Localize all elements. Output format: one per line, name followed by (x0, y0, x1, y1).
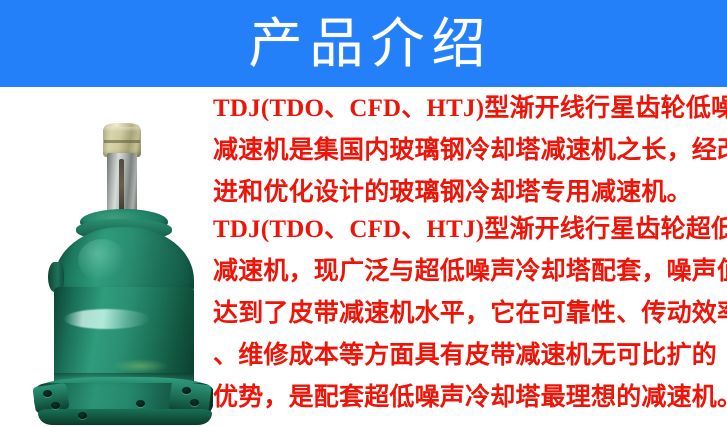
description-line: 减速机，现广泛与超低噪声冷却塔配套，噪声值 (213, 255, 727, 289)
description-line: TDJ(TDO、CFD、HTJ)型渐开线行星齿轮超低噪声 (213, 213, 727, 247)
description-line: TDJ(TDO、CFD、HTJ)型渐开线行星齿轮低噪声 (213, 92, 727, 126)
barrel-label-smudge-icon (114, 359, 168, 373)
bolt-hole-icon (190, 399, 199, 406)
content-area: TDJ(TDO、CFD、HTJ)型渐开线行星齿轮低噪声 减速机是集国内玻璃钢冷却… (0, 87, 727, 427)
page-header-banner: 产品介绍 (0, 0, 727, 87)
bolt-hole-icon (182, 387, 191, 394)
base-flange-lip-icon (38, 409, 212, 425)
product-description: TDJ(TDO、CFD、HTJ)型渐开线行星齿轮低噪声 减速机是集国内玻璃钢冷却… (213, 87, 727, 427)
bolt-hole-icon (78, 412, 87, 419)
product-intro-page: 产品介绍 (0, 0, 727, 427)
bolt-hole-icon (136, 400, 145, 407)
bolt-hole-icon (43, 390, 52, 397)
bolt-hole-icon (51, 402, 60, 409)
product-image-canvas (18, 87, 213, 427)
shaft-keyway-icon (119, 159, 124, 211)
product-image (18, 87, 213, 427)
description-line: 减速机是集国内玻璃钢冷却塔减速机之长，经改 (213, 134, 727, 168)
description-line: 进和优化设计的玻璃钢冷却塔专用减速机。 (213, 176, 727, 210)
barrel-highlight-icon (64, 309, 150, 329)
description-line: 优势，是配套超低噪声冷却塔最理想的减速机。 (213, 381, 727, 415)
shoulder-highlight-icon (78, 239, 126, 281)
description-line: 达到了皮带减速机水平，它在可靠性、传动效率 (213, 297, 727, 331)
description-line: 、维修成本等方面具有皮带减速机无可比扩的 (213, 339, 727, 373)
page-title: 产品介绍 (0, 0, 727, 87)
